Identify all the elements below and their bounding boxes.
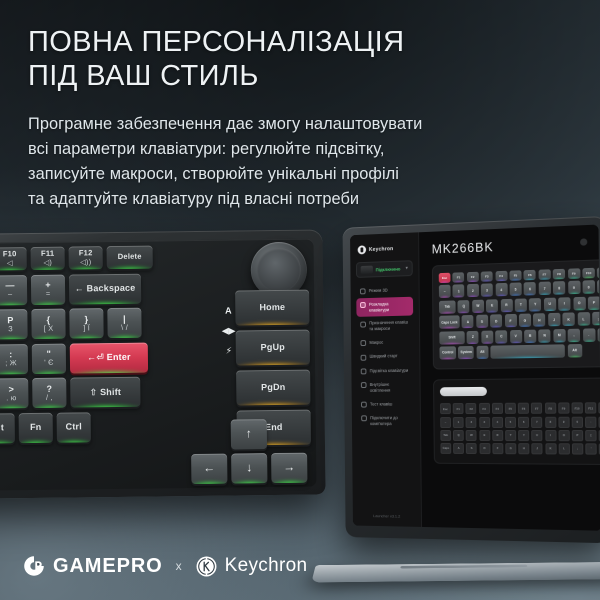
- virtual-key[interactable]: R: [500, 299, 512, 312]
- description-text: Програмне забезпечення дає змогу налашто…: [28, 112, 588, 212]
- mapping-key[interactable]: L: [558, 443, 569, 454]
- virtual-key[interactable]: S: [476, 315, 488, 328]
- mapping-key[interactable]: 5: [505, 416, 516, 427]
- number-key: +=: [31, 274, 65, 304]
- mapping-row: TabQWERTYUIOP[]\: [440, 430, 599, 441]
- laptop-base: [311, 562, 600, 583]
- modifier-key: Ctrl: [57, 412, 91, 442]
- virtual-key[interactable]: 0: [582, 281, 595, 295]
- mapping-key[interactable]: 3: [479, 416, 490, 427]
- mapping-key[interactable]: F9: [558, 403, 569, 414]
- virtual-key[interactable]: O: [573, 297, 585, 311]
- virtual-key[interactable]: .: [583, 328, 596, 342]
- virtual-key[interactable]: Q: [458, 300, 470, 313]
- page-title: ПОВНА ПЕРСОНАЛІЗАЦІЯ ПІД ВАШ СТИЛЬ: [28, 26, 588, 94]
- sidebar-item-3[interactable]: Макрос: [357, 336, 414, 350]
- light-icon: [361, 369, 367, 375]
- virtual-key[interactable]: ~: [439, 285, 451, 298]
- number-key: —–: [0, 275, 27, 305]
- mapping-key[interactable]: P: [572, 430, 583, 441]
- modifier-key: Alt: [0, 413, 15, 443]
- virtual-key[interactable]: F7: [538, 269, 550, 280]
- mapping-key[interactable]: O: [558, 430, 569, 441]
- virtual-key[interactable]: J: [548, 313, 560, 327]
- mapping-key[interactable]: 6: [518, 416, 529, 427]
- key-mapping-panel[interactable]: EscF1F2F3F4F5F6F7F8F9F10F11F12Del~123456…: [433, 378, 600, 465]
- function-key: F10◁: [0, 247, 27, 270]
- virtual-key[interactable]: 4: [495, 283, 507, 296]
- key-legend-main: Ctrl: [66, 422, 82, 432]
- mapping-key[interactable]: U: [531, 430, 542, 441]
- function-key: F12◁)): [69, 246, 103, 269]
- key-legend-main: Home: [259, 302, 285, 312]
- mapping-key[interactable]: F8: [545, 403, 556, 414]
- mapping-key[interactable]: F5: [505, 403, 516, 414]
- mapping-key[interactable]: Esc: [440, 403, 451, 414]
- mapping-key[interactable]: 7: [531, 416, 542, 427]
- clock-icon: [361, 354, 367, 360]
- mapping-key[interactable]: F: [492, 443, 503, 454]
- mapping-row: CapsASDFGHJKL;'EnterFn: [440, 443, 599, 455]
- virtual-key[interactable]: 1: [453, 285, 465, 298]
- mapping-key[interactable]: A: [453, 443, 464, 454]
- virtual-key[interactable]: [491, 344, 566, 358]
- key-legend-sub: ; Ж: [5, 360, 17, 368]
- vk-row-5: ControlSystemAltAlt: [439, 344, 598, 360]
- virtual-key[interactable]: N: [539, 329, 551, 342]
- logo-separator: x: [176, 559, 182, 573]
- keychron-wordmark: Keychron: [225, 555, 308, 577]
- test-icon: [361, 402, 367, 408]
- function-key: F11◁): [31, 247, 65, 270]
- chevron-down-icon: ▾: [405, 265, 407, 271]
- virtual-key[interactable]: F1: [453, 272, 465, 282]
- enter-key: ←⏎ Enter: [70, 342, 148, 373]
- virtual-key[interactable]: Tab: [439, 300, 456, 313]
- mapping-key[interactable]: F11: [585, 403, 596, 414]
- mapping-key[interactable]: I: [545, 430, 556, 441]
- logo-row: GAMEPRO x Keychron: [22, 554, 307, 578]
- mapping-key[interactable]: W: [466, 430, 477, 441]
- indicator-icon: ⚡: [222, 341, 236, 361]
- shift-key: ⇧ Shift: [70, 377, 140, 408]
- sidebar-item-label: Розкладка клавіатури: [369, 301, 409, 313]
- house-icon: [360, 321, 366, 327]
- mapping-row: EscF1F2F3F4F5F6F7F8F9F10F11F12Del: [440, 403, 599, 415]
- virtual-key[interactable]: Esc: [439, 273, 451, 283]
- virtual-key[interactable]: 2: [467, 284, 479, 297]
- key-legend-sub: / ,: [46, 394, 53, 402]
- key-legend-main: PgUp: [261, 342, 285, 352]
- mapping-key[interactable]: 0: [572, 416, 583, 427]
- sidebar-item-label: Призначення клавіш та макроси: [369, 320, 409, 332]
- virtual-key[interactable]: F5: [509, 270, 521, 280]
- virtual-key[interactable]: F9: [568, 268, 580, 279]
- mapping-key[interactable]: G: [505, 443, 516, 454]
- status-indicators: A◀▶⚡: [221, 301, 236, 361]
- key-legend-top: Delete: [118, 253, 142, 262]
- physical-keyboard: F8▷IIF9▷▷F10◁F11◁)F12◁))Delete (9)0—–+=←…: [0, 229, 326, 499]
- virtual-key[interactable]: Alt: [567, 344, 581, 358]
- nav-key: PgDn: [236, 370, 310, 406]
- sidebar-item-4[interactable]: Швидкий старт: [357, 350, 414, 364]
- arrow-row-bottom: ← ↓ →: [189, 453, 309, 484]
- mapping-key[interactable]: K: [545, 443, 556, 454]
- letter-key: |\ /: [107, 308, 141, 338]
- glow-icon: [361, 383, 367, 389]
- virtual-key[interactable]: H: [533, 313, 545, 326]
- modifier-key: Fn: [19, 412, 53, 442]
- brand-name: Keychron: [369, 246, 394, 253]
- vk-row-4: ShiftZXCVBNM,./Shift: [439, 328, 598, 344]
- reset-pill-button[interactable]: [440, 387, 487, 396]
- key-legend-sub: З: [8, 325, 13, 333]
- laptop-lid: Keychron Підключено ▾ Режим 3DРозкладка …: [343, 216, 600, 543]
- laptop: Keychron Підключено ▾ Режим 3DРозкладка …: [330, 222, 600, 600]
- virtual-key[interactable]: W: [472, 299, 484, 312]
- key-legend-sub: –: [8, 291, 12, 299]
- sidebar-item-6[interactable]: Внутрішнє освітлення: [357, 378, 414, 397]
- keychron-launcher-app: Keychron Підключено ▾ Режим 3DРозкладка …: [350, 225, 600, 531]
- mapping-key[interactable]: 4: [492, 416, 503, 427]
- vk-row-2: TabQWERTYUIOP[]\: [439, 296, 598, 313]
- letter-key: {[ Х: [31, 309, 65, 339]
- arrow-right-key: →: [271, 453, 307, 483]
- mapping-key[interactable]: J: [532, 443, 543, 454]
- virtual-key[interactable]: F2: [467, 272, 479, 282]
- virtual-key[interactable]: 9: [568, 281, 580, 295]
- mapping-key[interactable]: 9: [558, 416, 569, 427]
- virtual-key[interactable]: G: [519, 314, 531, 327]
- mapping-key[interactable]: Tab: [440, 430, 451, 441]
- key-legend-main: Alt: [0, 423, 4, 433]
- mapping-key[interactable]: ~: [440, 417, 451, 428]
- keychron-circle-k-icon: [195, 555, 218, 578]
- virtual-key[interactable]: D: [490, 314, 502, 327]
- key-legend-main: Fn: [30, 422, 42, 432]
- virtual-key[interactable]: Y: [529, 298, 541, 311]
- virtual-key[interactable]: F10: [582, 268, 594, 279]
- mapping-key[interactable]: R: [492, 430, 503, 441]
- virtual-key[interactable]: V: [510, 329, 522, 342]
- virtual-key[interactable]: E: [486, 299, 498, 312]
- keyboard-main-area: F8▷IIF9▷▷F10◁F11◁)F12◁))Delete (9)0—–+=←…: [0, 245, 229, 449]
- promo-banner: ПОВНА ПЕРСОНАЛІЗАЦІЯ ПІД ВАШ СТИЛЬ Прогр…: [0, 0, 600, 600]
- mapping-key[interactable]: ': [585, 443, 596, 454]
- arrow-up-key: ↑: [231, 419, 267, 449]
- z-row: ь<, б>. ю?/ ,⇧ Shift: [0, 376, 229, 410]
- virtual-key[interactable]: B: [524, 329, 536, 342]
- virtual-key[interactable]: 5: [510, 283, 522, 296]
- virtual-key[interactable]: F3: [481, 271, 493, 281]
- sidebar-item-label: Режим 3D: [369, 287, 388, 293]
- letter-key: ?/ ,: [32, 378, 66, 408]
- mapping-key[interactable]: H: [518, 443, 529, 454]
- mapping-key[interactable]: -: [585, 416, 596, 427]
- gamepro-logo: GAMEPRO: [22, 554, 163, 578]
- mapping-key[interactable]: S: [466, 443, 477, 454]
- key-legend-sub: =: [46, 290, 51, 298]
- virtual-key[interactable]: I: [558, 297, 570, 311]
- virtual-key[interactable]: 8: [553, 281, 565, 295]
- number-row: (9)0—–+=← Backspace: [0, 272, 227, 306]
- mapping-key[interactable]: Y: [518, 430, 529, 441]
- sidebar-item-1[interactable]: Розкладка клавіатури: [356, 297, 413, 317]
- sidebar-item-label: Підсвітка клавіатури: [370, 368, 409, 374]
- mapping-key[interactable]: F7: [531, 403, 542, 414]
- key-legend-main: ←⏎ Enter: [87, 352, 131, 363]
- sidebar-item-label: Підключити до комп'ютера: [370, 415, 410, 426]
- virtual-key[interactable]: A: [462, 315, 474, 328]
- a-row: KлLд:; Ж"' Є←⏎ Enter: [0, 341, 228, 375]
- virtual-key[interactable]: U: [544, 297, 556, 311]
- key-legend-sub: \ /: [121, 324, 128, 332]
- arrow-down-key: ↓: [231, 453, 267, 483]
- letter-key: }] Ї: [69, 308, 103, 338]
- mapping-key[interactable]: T: [505, 430, 516, 441]
- function-row: F8▷IIF9▷▷F10◁F11◁)F12◁))Delete: [0, 245, 227, 272]
- virtual-key[interactable]: ;: [592, 312, 600, 326]
- virtual-key[interactable]: 7: [538, 282, 550, 296]
- letter-key: :; Ж: [0, 344, 28, 374]
- vk-row-3: Caps LockASDFGHJKL;'Enter: [439, 312, 598, 329]
- app-sidebar: Keychron Підключено ▾ Режим 3DРозкладка …: [350, 232, 422, 527]
- sidebar-item-2[interactable]: Призначення клавіш та макроси: [356, 316, 413, 335]
- q-row: ШOЩPЗ{[ Х}] Ї|\ /: [0, 307, 228, 341]
- mapping-key[interactable]: D: [479, 443, 490, 454]
- arrow-left-key: ←: [191, 454, 227, 484]
- virtual-key[interactable]: F4: [495, 271, 507, 281]
- virtual-key[interactable]: Shift: [439, 331, 464, 344]
- virtual-key[interactable]: L: [577, 312, 589, 326]
- mapping-key[interactable]: 2: [466, 417, 477, 428]
- sidebar-item-0[interactable]: Режим 3D: [356, 283, 413, 298]
- app-brand: Keychron: [356, 241, 413, 262]
- mapping-key[interactable]: F1: [453, 403, 464, 414]
- virtual-key[interactable]: Alt: [476, 346, 488, 359]
- copy-block: ПОВНА ПЕРСОНАЛІЗАЦІЯ ПІД ВАШ СТИЛЬ Прогр…: [28, 26, 588, 212]
- letter-key: >. ю: [0, 378, 29, 408]
- mapping-key[interactable]: F10: [571, 403, 582, 414]
- sidebar-item-label: Тест клавіш: [370, 401, 392, 407]
- mapping-key[interactable]: F3: [479, 403, 490, 414]
- mapping-key[interactable]: F2: [466, 403, 477, 414]
- gamepro-g-mark-icon: [22, 554, 46, 578]
- key-legend-sub: ◁): [43, 258, 52, 266]
- virtual-key[interactable]: F8: [553, 269, 565, 280]
- keychron-logo: Keychron: [195, 555, 308, 578]
- letter-key: PЗ: [0, 309, 28, 339]
- sidebar-item-8[interactable]: Підключити до комп'ютера: [357, 412, 414, 430]
- virtual-key[interactable]: C: [495, 330, 507, 343]
- sidebar-item-7[interactable]: Тест клавіш: [357, 397, 414, 410]
- virtual-key[interactable]: 6: [524, 282, 536, 296]
- key-legend-sub: ' Є: [44, 359, 53, 367]
- virtual-key[interactable]: F: [504, 314, 516, 327]
- virtual-key[interactable]: Control: [439, 346, 456, 359]
- mapping-row: ~1234567890-=Bksp: [440, 416, 599, 427]
- virtual-keyboard-panel[interactable]: EscF1F2F3F4F5F6F7F8F9F10F11 ~1234567890-…: [432, 259, 600, 370]
- gamepro-wordmark: GAMEPRO: [53, 555, 163, 578]
- sidebar-menu: Режим 3DРозкладка клавіатуриПризначення …: [356, 283, 415, 509]
- sidebar-item-label: Внутрішнє освітлення: [370, 382, 410, 394]
- virtual-key[interactable]: 3: [481, 284, 493, 297]
- virtual-key[interactable]: Caps Lock: [439, 315, 460, 328]
- key-legend-sub: ] Ї: [83, 324, 90, 332]
- key-legend-main: ← Backspace: [75, 283, 136, 294]
- virtual-key[interactable]: P: [588, 296, 600, 310]
- mapping-key[interactable]: Q: [453, 430, 464, 441]
- mapping-key[interactable]: F4: [492, 403, 503, 414]
- key-legend-main: ⇧ Shift: [90, 387, 122, 397]
- laptop-screen: Keychron Підключено ▾ Режим 3DРозкладка …: [350, 225, 600, 531]
- virtual-key[interactable]: Z: [467, 330, 479, 343]
- mapping-key[interactable]: 8: [545, 416, 556, 427]
- device-selector[interactable]: Підключено ▾: [356, 260, 413, 278]
- key-legend-sub: ◁)): [80, 258, 91, 266]
- function-key: Delete: [107, 246, 153, 270]
- keyboard-icon: [360, 302, 366, 308]
- key-legend-sub: . ю: [6, 394, 16, 402]
- nav-key: PgUp: [236, 330, 310, 366]
- mapping-key[interactable]: F6: [518, 403, 529, 414]
- mapping-key[interactable]: Caps: [440, 443, 451, 454]
- virtual-key[interactable]: T: [515, 298, 527, 311]
- sidebar-item-label: Швидкий старт: [369, 354, 397, 360]
- sidebar-item-label: Макрос: [369, 340, 383, 346]
- macro-icon: [360, 340, 366, 346]
- virtual-key[interactable]: M: [553, 329, 565, 342]
- virtual-key[interactable]: System: [458, 346, 474, 359]
- letter-key: "' Є: [32, 343, 66, 373]
- cube-icon: [360, 288, 366, 294]
- virtual-key[interactable]: ,: [568, 328, 580, 342]
- app-content: MK266BK EscF1F2F3F4F5F6F7F8F9F10F11 ~123…: [419, 225, 600, 531]
- indicator-icon: ◀▶: [221, 321, 235, 341]
- backspace-key: ← Backspace: [69, 273, 141, 304]
- virtual-key[interactable]: F6: [524, 270, 536, 281]
- mapping-key[interactable]: ;: [572, 443, 583, 454]
- mapping-key[interactable]: [: [585, 430, 596, 441]
- sidebar-item-5[interactable]: Підсвітка клавіатури: [357, 364, 414, 378]
- keychron-logo-icon: [358, 245, 367, 254]
- device-model-title: MK266BK: [432, 236, 599, 257]
- device-thumbnail-icon: [361, 266, 373, 274]
- nav-key: Home: [235, 290, 309, 326]
- arrow-row-top: ↑: [189, 419, 309, 450]
- link-icon: [361, 416, 367, 422]
- key-legend-sub: ◁: [7, 259, 13, 267]
- vk-row-1: ~1234567890-=Bksp: [439, 280, 598, 298]
- device-status-label: Підключено: [376, 266, 403, 272]
- key-legend-main: PgDn: [261, 382, 285, 392]
- virtual-key[interactable]: K: [563, 313, 575, 327]
- arrow-cluster: ↑ ← ↓ →: [189, 419, 310, 484]
- mapping-grid: EscF1F2F3F4F5F6F7F8F9F10F11F12Del~123456…: [440, 403, 600, 455]
- indicator-icon: A: [221, 301, 235, 321]
- app-version-label: Launcher v3.1.2: [358, 508, 415, 521]
- virtual-key[interactable]: X: [481, 330, 493, 343]
- mapping-key[interactable]: 1: [453, 417, 464, 428]
- key-legend-sub: [ Х: [44, 325, 54, 333]
- mapping-key[interactable]: E: [479, 430, 490, 441]
